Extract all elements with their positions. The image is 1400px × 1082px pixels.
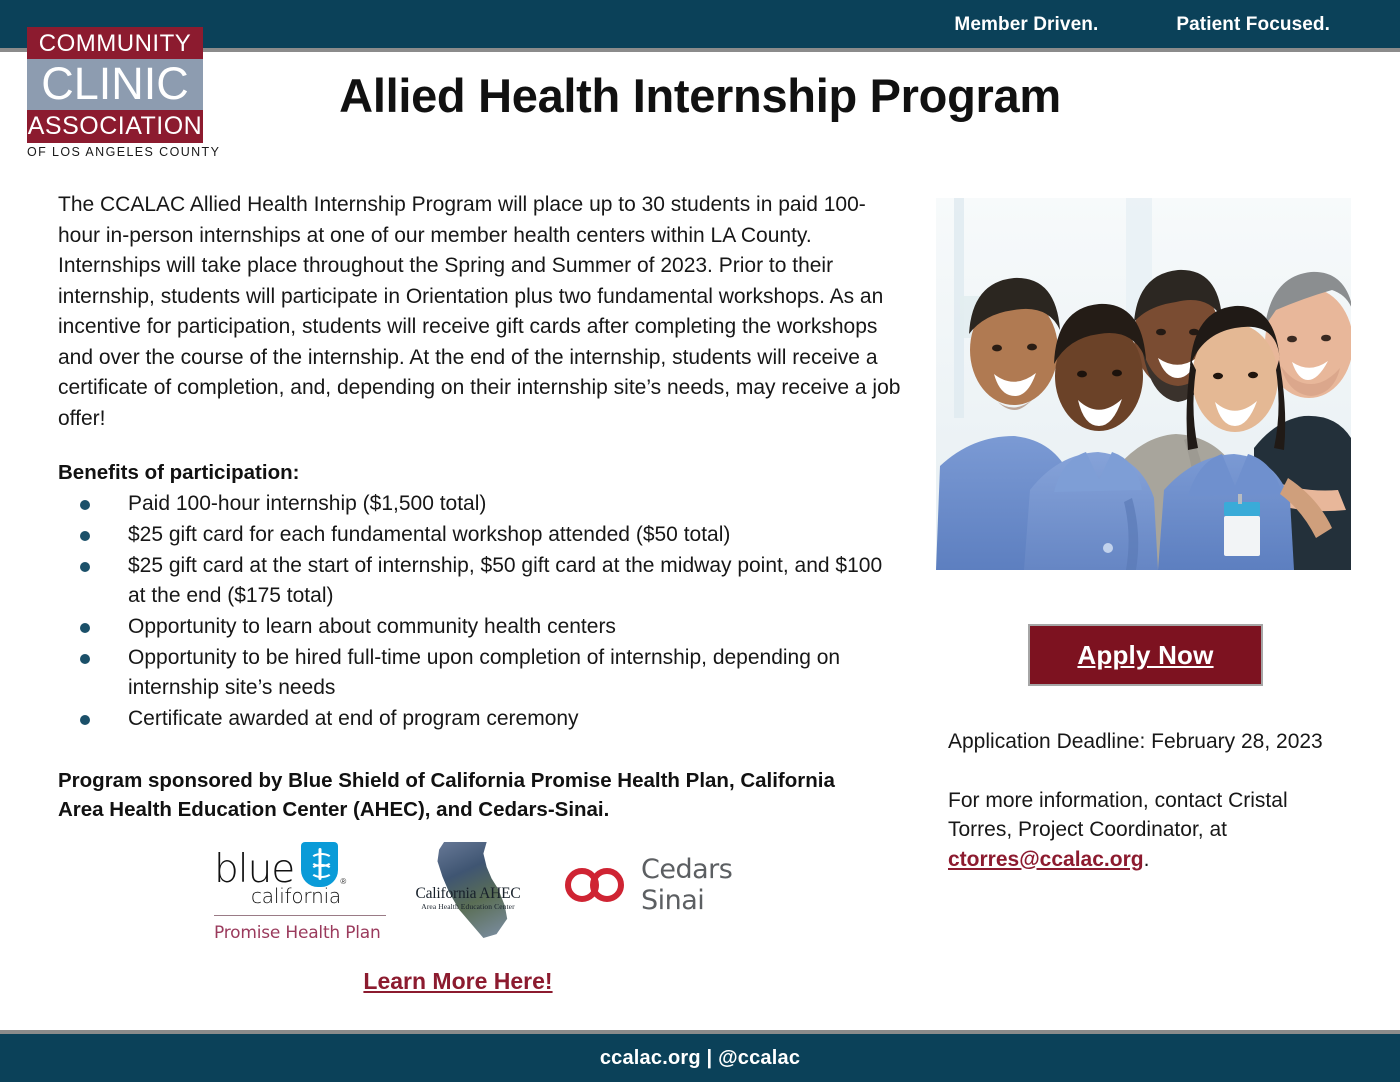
benefit-text: Opportunity to learn about community hea… [128,615,616,638]
tagline-member-driven: Member Driven. [954,14,1098,36]
cedars-line-2: Sinai [641,885,732,916]
list-item: $25 gift card for each fundamental works… [80,520,903,550]
bullet-icon [80,654,90,664]
spacer [948,757,1338,786]
header-tagline-group: Member Driven. Patient Focused. [954,14,1330,36]
california-ahec-logo: California AHEC Area Health Education Ce… [418,842,518,938]
bullet-icon [80,623,90,633]
cedars-line-1: Cedars [641,854,732,885]
bullet-icon [80,531,90,541]
benefits-heading: Benefits of participation: [58,461,903,485]
contact-email-link[interactable]: ctorres@ccalac.org [948,848,1144,871]
logo-band-association: ASSOCIATION [27,110,203,143]
tagline-patient-focused: Patient Focused. [1176,14,1330,36]
ahec-subtitle: Area Health Education Center [412,902,524,911]
list-item: Opportunity to learn about community hea… [80,612,903,642]
page-title: Allied Health Internship Program [230,68,1170,123]
benefit-text: Certificate awarded at end of program ce… [128,707,579,730]
bullet-icon [80,715,90,725]
benefit-text: $25 gift card for each fundamental works… [128,523,730,546]
application-deadline: Application Deadline: February 28, 2023 [948,727,1338,757]
cedars-sinai-logo: Cedars Sinai [565,854,735,916]
apply-now-button[interactable]: Apply Now [1028,624,1263,686]
divider [214,915,386,916]
benefit-text: $25 gift card at the start of internship… [128,554,882,607]
learn-more-link[interactable]: Learn More Here! [58,968,858,995]
apply-now-label: Apply Now [1077,640,1213,671]
list-item: Certificate awarded at end of program ce… [80,704,903,734]
blue-shield-cross-icon: ® [301,842,338,887]
footer-text: ccalac.org | @ccalac [600,1047,800,1070]
blue-shield-plan-label: Promise Health Plan [214,923,386,943]
blue-shield-wordmark: blue [214,852,294,888]
photo-illustration [936,198,1351,570]
cedars-sinai-infinity-icon [565,860,631,904]
logo-band-clinic: CLINIC [27,59,203,110]
left-content-column: The CCALAC Allied Health Internship Prog… [58,190,903,824]
benefit-text: Opportunity to be hired full-time upon c… [128,646,840,699]
contact-paragraph: For more information, contact Cristal To… [948,786,1338,875]
logo-band-community: COMMUNITY [27,27,203,59]
sponsor-logo-row: blue ® california Promise Health Plan Ca… [200,836,740,941]
contact-suffix-text: . [1144,848,1150,871]
bullet-icon [80,500,90,510]
bullet-icon [80,562,90,572]
intro-paragraph: The CCALAC Allied Health Internship Prog… [58,190,903,434]
contact-prefix-text: For more information, contact Cristal To… [948,789,1288,842]
footer-bar: ccalac.org | @ccalac [0,1030,1400,1082]
benefits-list: Paid 100-hour internship ($1,500 total) … [58,489,903,734]
healthcare-team-photo [936,198,1351,570]
right-info-block: Application Deadline: February 28, 2023 … [948,727,1338,874]
registered-mark: ® [340,877,346,886]
blue-shield-california-logo: blue ® california Promise Health Plan [214,842,386,943]
ahec-title: California AHEC [412,885,524,903]
list-item: Opportunity to be hired full-time upon c… [80,643,903,703]
top-header-bar: Member Driven. Patient Focused. [0,0,1400,52]
benefit-text: Paid 100-hour internship ($1,500 total) [128,492,486,515]
ccalac-logo: COMMUNITY CLINIC ASSOCIATION OF LOS ANGE… [27,27,203,159]
sponsor-statement: Program sponsored by Blue Shield of Cali… [58,766,878,824]
list-item: $25 gift card at the start of internship… [80,551,903,611]
cedars-sinai-wordmark: Cedars Sinai [641,854,732,916]
list-item: Paid 100-hour internship ($1,500 total) [80,489,903,519]
logo-subtitle-county: OF LOS ANGELES COUNTY [27,143,203,159]
